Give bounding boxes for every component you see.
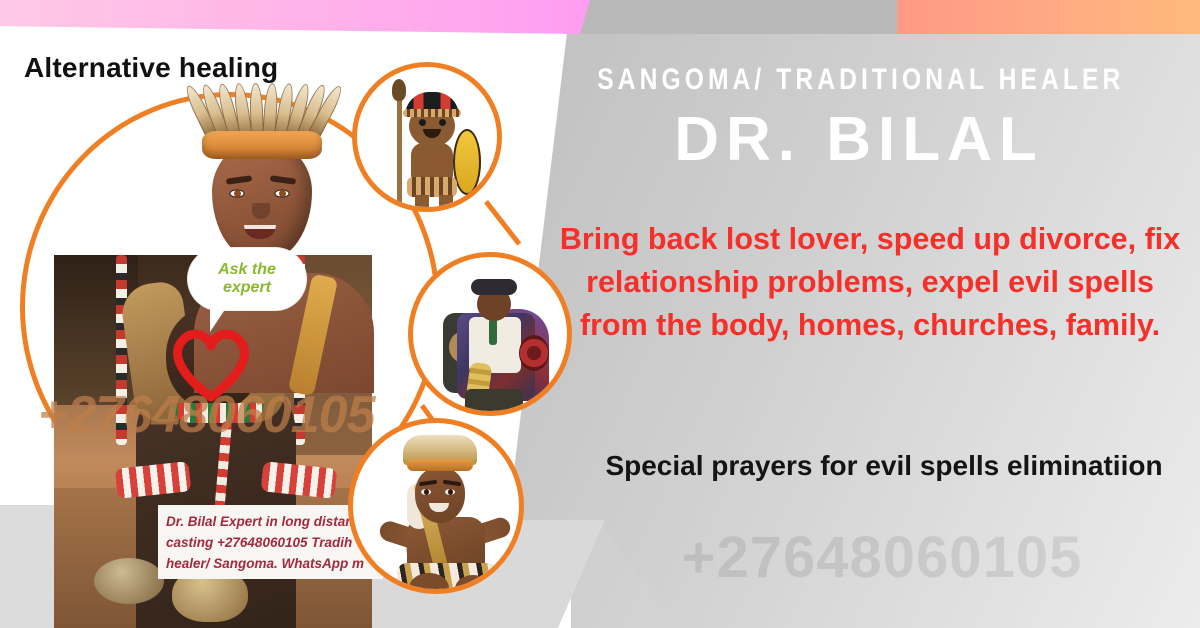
chief-eye-left	[229, 189, 245, 198]
special-prayers-text: Special prayers for evil spells eliminat…	[578, 443, 1190, 488]
right-text-column: SANGOMA/ TRADITIONAL HEALER DR. BILAL Br…	[540, 0, 1200, 628]
sangoma-hat	[471, 279, 517, 295]
sangoma-tie	[489, 319, 497, 345]
chief-head	[212, 141, 312, 261]
circle-zulu-warrior	[352, 62, 502, 212]
chief-eye-right	[274, 189, 290, 198]
speech-bubble: Ask the expert	[188, 248, 306, 310]
warrior-eye-left	[419, 119, 426, 126]
chief-brow-right	[270, 175, 297, 185]
spear-tip-icon	[392, 79, 406, 101]
crouching-headband	[407, 459, 473, 471]
warrior-leg-left	[415, 195, 429, 212]
zulu-warrior-icon	[357, 67, 497, 207]
poster-canvas: Alternative healing	[0, 0, 1200, 628]
photo-caption-line-2: casting +27648060105 Tradih	[166, 532, 375, 553]
warrior-headband	[403, 109, 461, 117]
crouching-warrior-icon	[353, 423, 519, 589]
photo-watermark-phone: +27648060105	[38, 385, 375, 445]
crouching-eye-right	[445, 489, 455, 495]
speech-bubble-text: Ask the expert	[208, 261, 286, 297]
circle-crouching-warrior	[348, 418, 524, 594]
chief-headband	[202, 131, 322, 159]
page-title: Alternative healing	[24, 52, 278, 84]
chief-mouth	[244, 225, 276, 239]
photo-caption-line-3: healer/ Sangoma. WhatsApp m	[166, 553, 375, 574]
healer-name: DR. BILAL	[540, 104, 1178, 175]
warrior-skirt	[407, 177, 457, 197]
crouching-eye-left	[421, 489, 431, 495]
chief-brow-left	[226, 175, 253, 185]
services-text: Bring back lost lover, speed up divorce,…	[550, 218, 1190, 347]
watermark-phone-right: +27648060105	[574, 524, 1190, 591]
photo-calabash-secondary	[94, 558, 164, 604]
shield-icon	[453, 129, 481, 195]
warrior-eye-right	[439, 119, 446, 126]
crouching-brow-left	[419, 480, 437, 486]
subtitle-sangoma-traditional-healer: SANGOMA/ TRADITIONAL HEALER	[597, 63, 1119, 97]
spear-icon	[397, 87, 402, 207]
chief-nose	[252, 203, 270, 219]
crouching-brow-right	[443, 480, 461, 486]
top-bar-pink	[0, 0, 600, 34]
warrior-leg-right	[439, 195, 453, 212]
sangoma-trousers	[465, 389, 523, 416]
photo-caption-line-1: Dr. Bilal Expert in long distan	[166, 511, 375, 532]
crouching-face	[415, 467, 465, 523]
